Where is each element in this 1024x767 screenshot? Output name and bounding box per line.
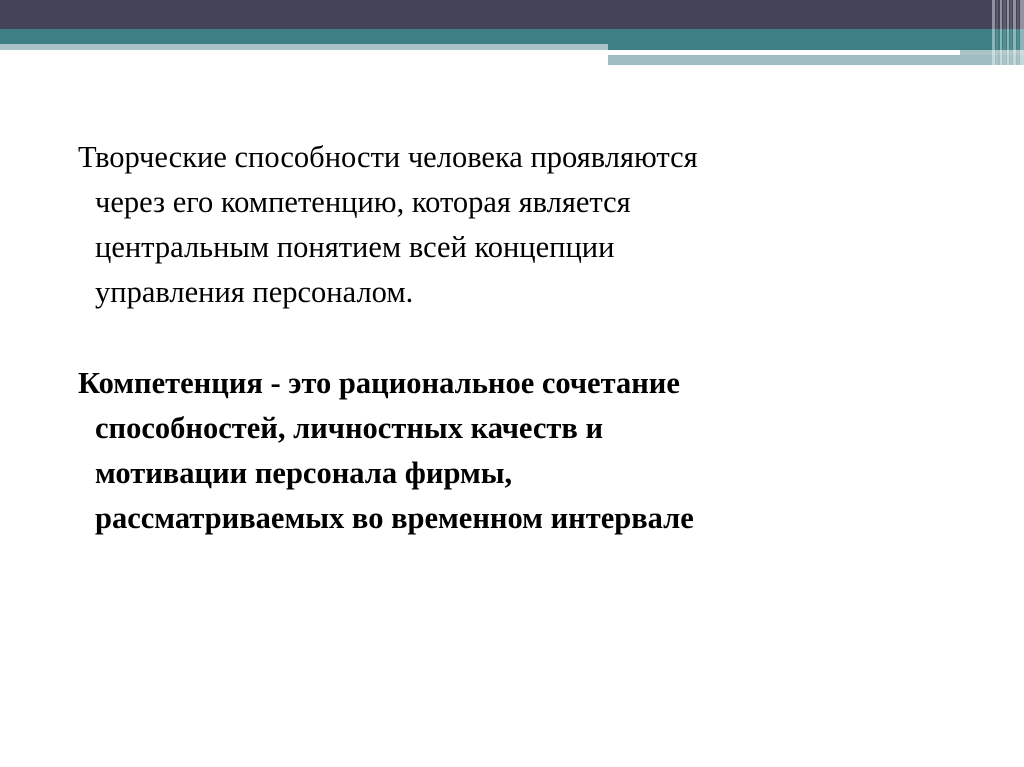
slide-content: Творческие способности человека проявляю… xyxy=(0,0,1024,767)
slide-paragraph-definition: Компетенция - это рациональное сочетание… xyxy=(78,361,755,541)
slide-paragraph-intro: Творческие способности человека проявляю… xyxy=(78,135,715,315)
presentation-slide: Творческие способности человека проявляю… xyxy=(0,0,1024,767)
